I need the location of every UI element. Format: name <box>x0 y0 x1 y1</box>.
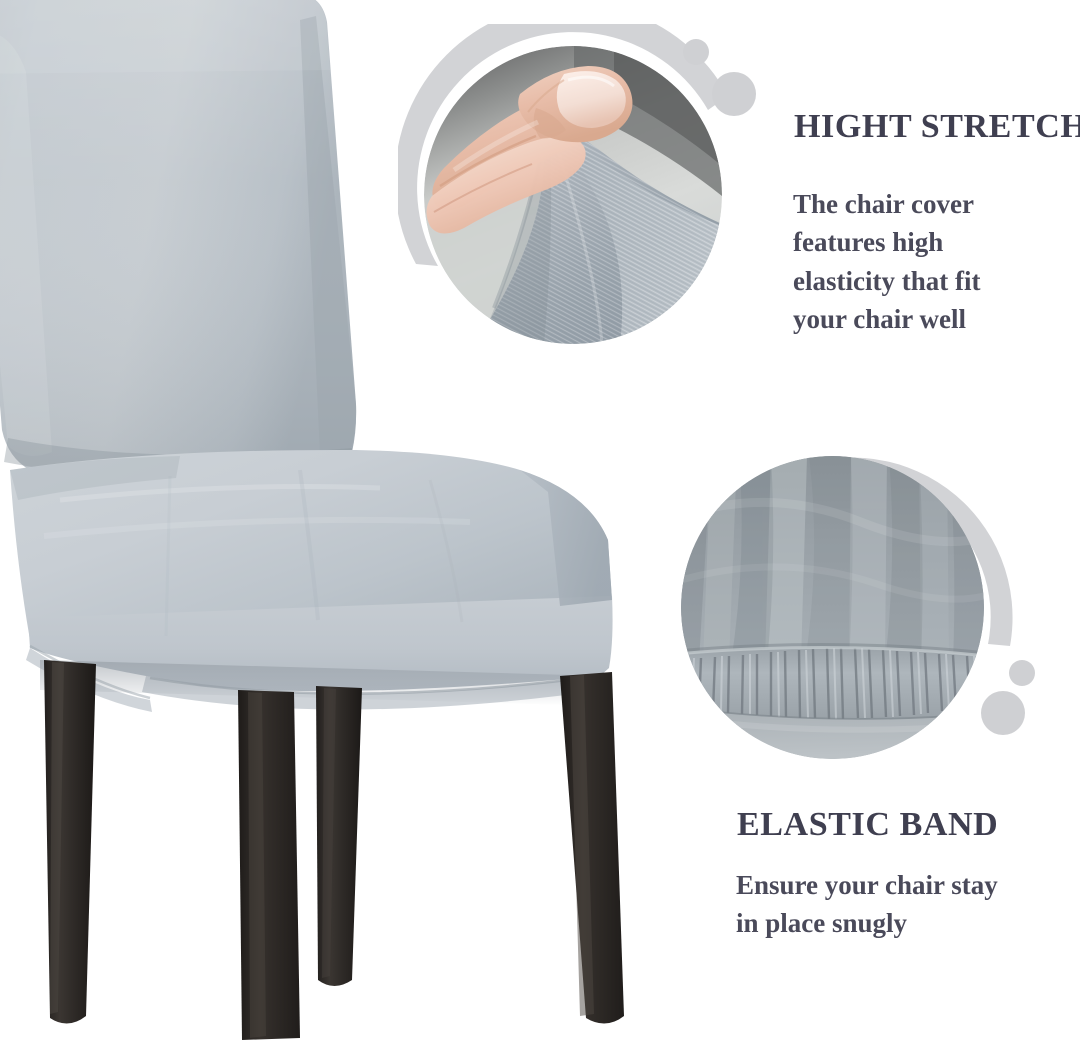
elastic-band-photo <box>681 456 984 759</box>
feature-inset-high-stretch <box>424 46 722 344</box>
chair-leg-front-right <box>238 690 300 1040</box>
feature-heading-high-stretch: HIGHT STRETCH <box>794 108 1080 146</box>
feature-body-line: your chair well <box>793 300 1063 338</box>
decor-dot-bottom-small <box>1009 660 1035 686</box>
feature-inset-elastic-band <box>681 456 984 759</box>
decor-dot-top-small <box>683 39 709 65</box>
chair-legs <box>44 660 624 1040</box>
feature-body-line: elasticity that fit <box>793 262 1063 300</box>
feature-body-line: features high <box>793 223 1063 261</box>
decor-dot-bottom-large <box>981 691 1025 735</box>
chair-backrest <box>0 0 356 470</box>
feature-body-line: The chair cover <box>793 185 1063 223</box>
feature-body-line: in place snugly <box>736 904 1066 942</box>
decor-dot-top-large <box>712 72 756 116</box>
infographic-canvas: HIGHT STRETCH The chair cover features h… <box>0 0 1080 1041</box>
fabric-stretch-photo <box>424 46 722 344</box>
feature-body-elastic-band: Ensure your chair stay in place snugly <box>736 866 1066 943</box>
feature-heading-elastic-band: ELASTIC BAND <box>737 806 998 844</box>
feature-body-high-stretch: The chair cover features high elasticity… <box>793 185 1063 338</box>
feature-body-line: Ensure your chair stay <box>736 866 1066 904</box>
